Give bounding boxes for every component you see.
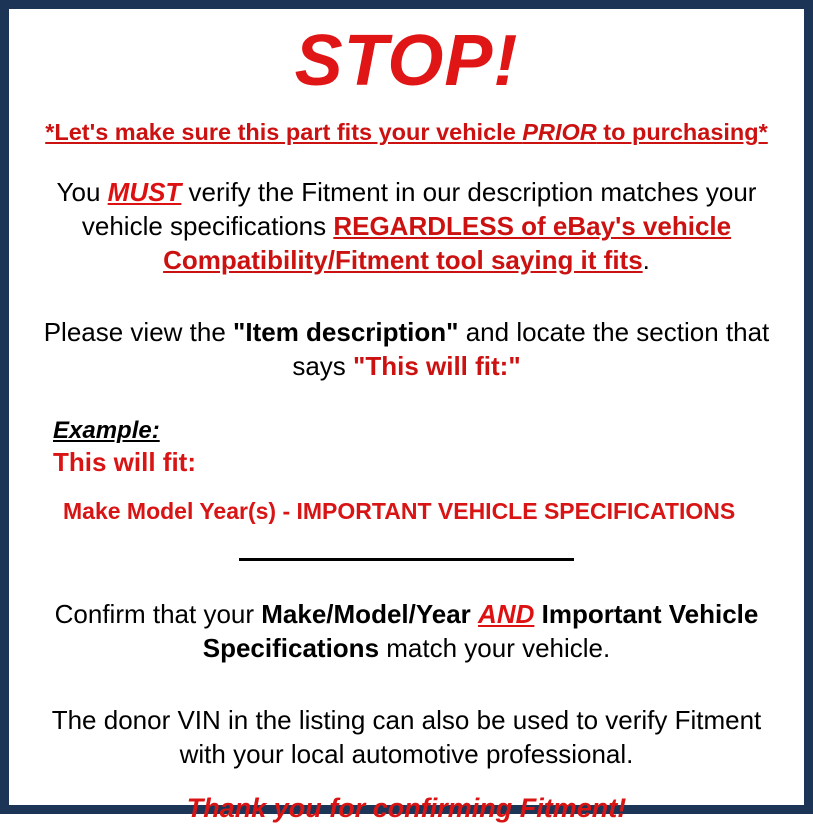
and-emphasis: AND	[478, 599, 534, 629]
make-model-year-emphasis: Make/Model/Year	[261, 599, 471, 629]
example-block: Example: This will fit: Make Model Year(…	[39, 417, 774, 525]
lead-warning-line: *Let's make sure this part fits your veh…	[39, 117, 774, 147]
confirm-paragraph: Confirm that your Make/Model/Year AND Im…	[39, 597, 774, 665]
section-divider	[239, 558, 574, 561]
confirm-text-part4: match your vehicle.	[379, 633, 610, 663]
lead-text-after: to purchasing*	[597, 119, 768, 145]
lead-text-before: *Let's make sure this part fits your veh…	[45, 119, 522, 145]
must-text-part3: .	[643, 245, 650, 275]
this-will-fit-emphasis: "This will fit:"	[353, 351, 521, 381]
stop-heading: STOP!	[39, 15, 774, 103]
example-spec-line: Make Model Year(s) - IMPORTANT VEHICLE S…	[63, 497, 774, 525]
confirm-text-part1: Confirm that your	[55, 599, 262, 629]
must-verify-paragraph: You MUST verify the Fitment in our descr…	[39, 175, 774, 277]
section-divider-wrap	[39, 551, 774, 569]
fitment-notice-card: STOP! *Let's make sure this part fits yo…	[0, 0, 813, 814]
confirm-text-part3	[534, 599, 541, 629]
thank-you-line: Thank you for confirming Fitment!	[39, 791, 774, 825]
item-description-emphasis: "Item description"	[233, 317, 458, 347]
view-description-paragraph: Please view the "Item description" and l…	[39, 315, 774, 383]
must-text-part1: You	[57, 177, 108, 207]
donor-vin-paragraph: The donor VIN in the listing can also be…	[39, 703, 774, 771]
example-fit-heading: This will fit:	[53, 447, 774, 477]
lead-emphasis-prior: PRIOR	[522, 119, 596, 145]
confirm-text-part2	[471, 599, 478, 629]
example-label: Example:	[53, 417, 774, 445]
must-emphasis: MUST	[108, 177, 182, 207]
view-text-part1: Please view the	[44, 317, 233, 347]
